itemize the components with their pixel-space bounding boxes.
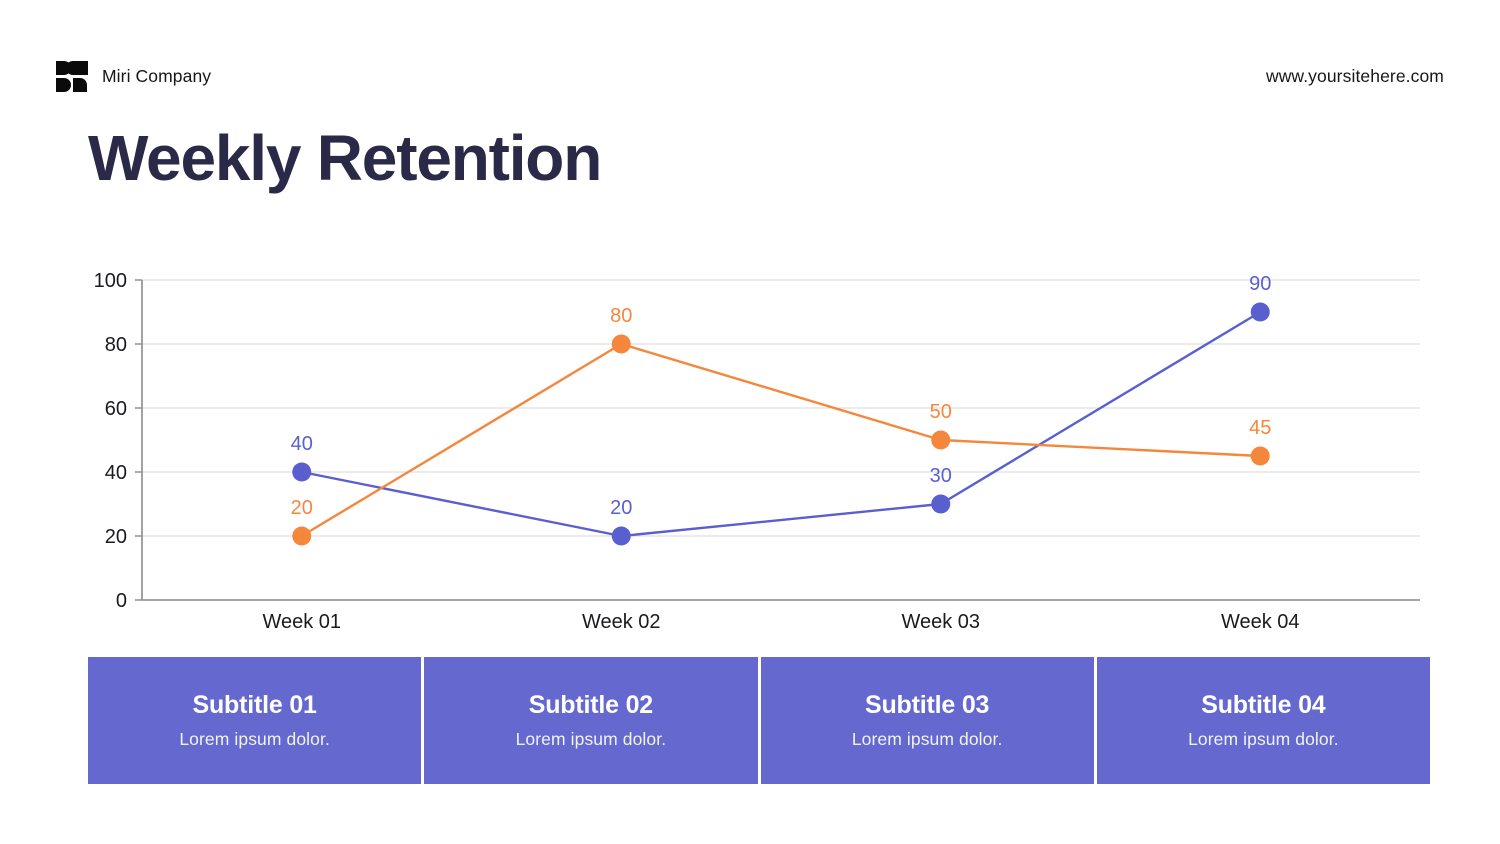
y-axis-tick-label: 20	[105, 526, 127, 548]
brand-name: Miri Company	[102, 66, 211, 87]
x-axis-tick-label: Week 01	[262, 611, 341, 633]
series-point[interactable]	[292, 527, 311, 546]
chart-x-axis-labels: Week 01Week 02Week 03Week 04	[262, 611, 1299, 633]
brand-lockup: Miri Company	[56, 61, 211, 92]
series-point[interactable]	[612, 335, 631, 354]
series-point[interactable]	[1251, 303, 1270, 322]
subtitle-card[interactable]: Subtitle 04 Lorem ipsum dolor.	[1097, 657, 1430, 784]
series-point-label: 40	[291, 433, 313, 455]
retention-line-chart: 020406080100 4020309020805045 Week 01Wee…	[0, 262, 1500, 642]
miri-quadrant-logo-icon	[56, 61, 88, 92]
series-point-label: 90	[1249, 273, 1271, 295]
subtitle-card-title: Subtitle 03	[865, 691, 989, 720]
series-point[interactable]	[931, 431, 950, 450]
series-point[interactable]	[612, 527, 631, 546]
subtitle-card-desc: Lorem ipsum dolor.	[516, 729, 667, 750]
subtitle-card-desc: Lorem ipsum dolor.	[179, 729, 330, 750]
subtitle-card-title: Subtitle 04	[1201, 691, 1325, 720]
series-point-label: 80	[610, 305, 632, 327]
chart-series-group	[292, 303, 1270, 546]
y-axis-tick-label: 40	[105, 462, 127, 484]
y-axis-tick-label: 0	[116, 590, 127, 612]
series-point-label: 45	[1249, 417, 1271, 439]
series-point-label: 50	[930, 401, 952, 423]
subtitle-card[interactable]: Subtitle 02 Lorem ipsum dolor.	[424, 657, 760, 784]
subtitle-card-title: Subtitle 01	[193, 691, 317, 720]
page-title: Weekly Retention	[88, 125, 601, 192]
subtitle-card-title: Subtitle 02	[529, 691, 653, 720]
x-axis-tick-label: Week 04	[1221, 611, 1300, 633]
subtitle-card-desc: Lorem ipsum dolor.	[852, 729, 1003, 750]
y-axis-tick-label: 80	[105, 334, 127, 356]
y-axis-tick-label: 100	[94, 270, 127, 292]
subtitle-card[interactable]: Subtitle 01 Lorem ipsum dolor.	[88, 657, 424, 784]
x-axis-tick-label: Week 02	[582, 611, 661, 633]
series-point[interactable]	[292, 463, 311, 482]
series-line	[302, 344, 1261, 536]
series-point-label: 30	[930, 465, 952, 487]
y-axis-tick-label: 60	[105, 398, 127, 420]
subtitle-strip: Subtitle 01 Lorem ipsum dolor. Subtitle …	[88, 657, 1430, 784]
series-point[interactable]	[1251, 447, 1270, 466]
chart-canvas: 020406080100 4020309020805045 Week 01Wee…	[0, 262, 1500, 642]
series-point-label: 20	[610, 497, 632, 519]
chart-gridlines	[135, 280, 1420, 600]
slide-header: Miri Company www.yoursitehere.com	[56, 58, 1444, 94]
series-line	[302, 312, 1261, 536]
series-point[interactable]	[931, 495, 950, 514]
subtitle-card-desc: Lorem ipsum dolor.	[1188, 729, 1339, 750]
series-point-label: 20	[291, 497, 313, 519]
chart-y-axis-labels: 020406080100	[94, 270, 127, 612]
x-axis-tick-label: Week 03	[901, 611, 980, 633]
chart-data-labels: 4020309020805045	[291, 273, 1272, 519]
subtitle-card[interactable]: Subtitle 03 Lorem ipsum dolor.	[761, 657, 1097, 784]
slide-root: Miri Company www.yoursitehere.com Weekly…	[0, 0, 1500, 844]
site-url: www.yoursitehere.com	[1266, 66, 1444, 87]
